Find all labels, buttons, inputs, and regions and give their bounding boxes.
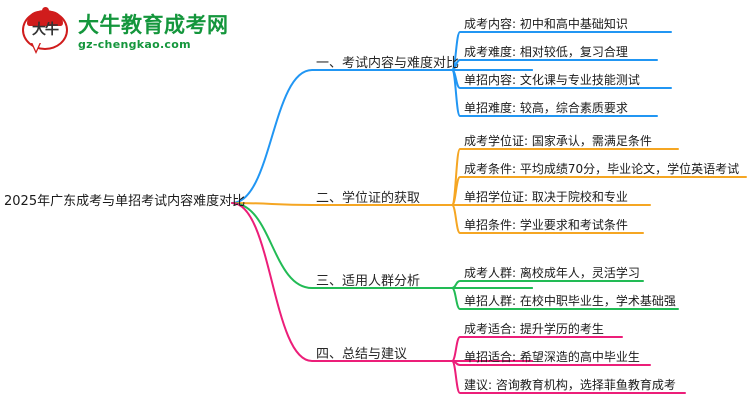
speech-bubble-tail-inner [32, 42, 40, 51]
logo-text-block: 大牛教育成考网 gz-chengkao.com [78, 14, 229, 52]
leaf-node-1-3[interactable]: 单招内容: 文化课与专业技能测试 [464, 71, 640, 88]
connector-path [452, 60, 657, 70]
leaf-node-3-1[interactable]: 成考人群: 离校成年人，灵活学习 [464, 264, 640, 281]
leaf-node-3-2[interactable]: 单招人群: 在校中职毕业生，学术基础强 [464, 292, 676, 309]
leaf-node-4-1[interactable]: 成考适合: 提升学历的考生 [464, 320, 604, 337]
leaf-node-4-3[interactable]: 建议: 咨询教育机构，选择菲鱼教育成考 [464, 376, 676, 393]
cap-dot-shape [42, 7, 49, 14]
mindmap-canvas: 大牛 大牛教育成考网 gz-chengkao.com 2025年广东成考与单招考… [0, 0, 750, 410]
leaf-node-4-2[interactable]: 单招适合: 希望深造的高中毕业生 [464, 348, 640, 365]
leaf-node-1-2[interactable]: 成考难度: 相对较低，复习合理 [464, 43, 628, 60]
connector-path [452, 281, 643, 288]
logo-subtitle: gz-chengkao.com [78, 38, 229, 52]
leaf-node-1-1[interactable]: 成考内容: 初中和高中基础知识 [464, 15, 628, 32]
site-logo[interactable]: 大牛 大牛教育成考网 gz-chengkao.com [22, 8, 252, 58]
logo-mark-text: 大牛 [25, 24, 65, 37]
leaf-node-2-4[interactable]: 单招条件: 学业要求和考试条件 [464, 216, 628, 233]
leaf-node-2-3[interactable]: 单招学位证: 取决于院校和专业 [464, 188, 628, 205]
root-node[interactable]: 2025年广东成考与单招考试内容难度对比 [4, 190, 245, 209]
branch-node-2[interactable]: 二、学位证的获取 [316, 187, 420, 206]
branch-node-3[interactable]: 三、适用人群分析 [316, 270, 420, 289]
daniu-bubble-icon: 大牛 [22, 10, 70, 56]
leaf-node-2-2[interactable]: 成考条件: 平均成绩70分，毕业论文，学位英语考试 [464, 160, 739, 177]
logo-title: 大牛教育成考网 [78, 14, 229, 38]
branch-node-4[interactable]: 四、总结与建议 [316, 343, 407, 362]
branch-node-1[interactable]: 一、考试内容与难度对比 [316, 52, 459, 71]
leaf-node-2-1[interactable]: 成考学位证: 国家承认，需满足条件 [464, 132, 652, 149]
leaf-node-1-4[interactable]: 单招难度: 较高，综合素质要求 [464, 99, 628, 116]
